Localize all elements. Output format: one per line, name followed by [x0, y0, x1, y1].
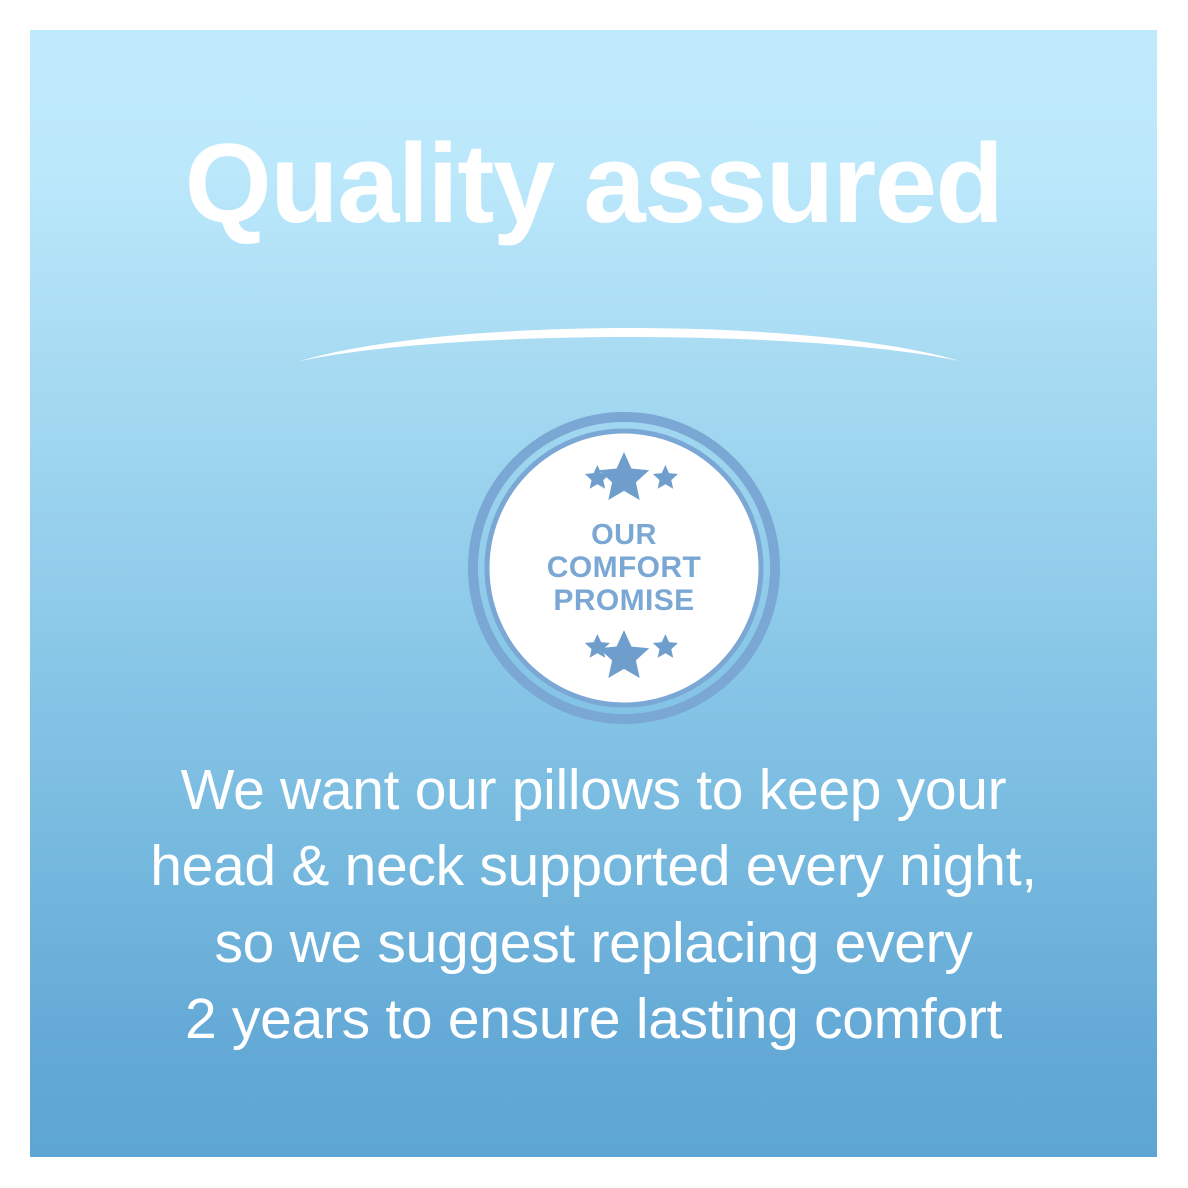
body-line-2: head & neck supported every night, — [30, 828, 1157, 904]
gradient-background-panel: Quality assured — [30, 30, 1157, 1157]
page-title: Quality assured — [30, 128, 1157, 240]
swoosh-divider-icon — [300, 315, 960, 375]
body-copy: We want our pillows to keep your head & … — [30, 752, 1157, 1058]
body-line-3: so we suggest replacing every — [30, 905, 1157, 981]
quality-assured-poster: Quality assured — [0, 0, 1188, 1188]
body-line-4: 2 years to ensure lasting comfort — [30, 981, 1157, 1057]
comfort-promise-seal: OUR COMFORT PROMISE — [468, 412, 780, 724]
body-line-1: We want our pillows to keep your — [30, 752, 1157, 828]
